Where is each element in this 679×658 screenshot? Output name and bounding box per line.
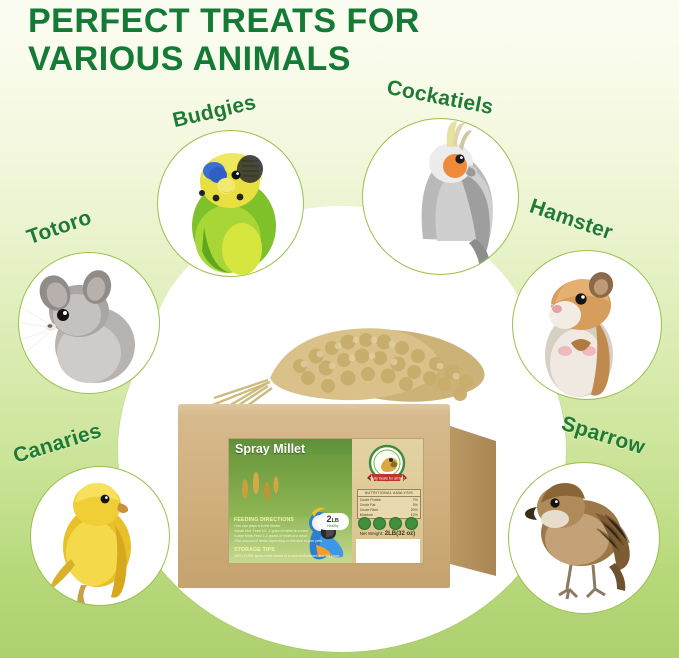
feeding-directions-block: FEEDING DIRECTIONS •You can place it in …: [234, 517, 350, 559]
animal-circle-sparrow: [508, 462, 660, 614]
net-weight-line: Net Weight: 2LB(32 oz): [352, 531, 423, 537]
animal-label-canaries: Canaries: [10, 419, 104, 469]
cockatiel-photo: [363, 119, 518, 274]
animal-circle-canaries: [30, 466, 170, 606]
nutrition-heading: NUTRITIONAL ANALYSIS: [358, 490, 420, 497]
label-right-panel: Tasty treats for all bird NUTRITIONAL AN…: [352, 439, 423, 563]
canary-photo: [31, 467, 169, 605]
cert-badge-icon: [373, 517, 386, 530]
title-line-1: PERFECT TREATS FOR: [28, 2, 420, 40]
budgie-photo: [158, 131, 303, 276]
nutrition-rows: Crude Protein7%Crude Fat3%Crude Fiber20%…: [358, 497, 420, 518]
net-weight-label: Net Weight:: [360, 531, 384, 536]
animal-label-cockatiels: Cockatiels: [385, 76, 496, 120]
product-name: Spray Millet: [235, 442, 352, 456]
animal-label-sparrow: Sparrow: [558, 412, 647, 460]
product-label: Spray Millet 2LB Healthy: [228, 438, 424, 564]
hamster-photo: [513, 251, 661, 399]
infographic-canvas: PERFECT TREATS FOR VARIOUS ANIMALS Budgi…: [0, 0, 679, 658]
chinchilla-photo: [19, 253, 159, 393]
label-white-strip: [356, 539, 420, 563]
label-left-panel: Spray Millet 2LB Healthy: [229, 439, 352, 563]
product-box: Spray Millet 2LB Healthy: [178, 398, 508, 588]
cert-badge-icon: [358, 517, 371, 530]
animal-circle-budgies: [157, 130, 304, 277]
page-title: PERFECT TREATS FOR VARIOUS ANIMALS: [28, 2, 648, 78]
animal-circle-hamster: [512, 250, 662, 400]
feeding-directions-heading: FEEDING DIRECTIONS: [234, 517, 350, 523]
box-side-panel: [450, 426, 496, 576]
nutrition-panel: NUTRITIONAL ANALYSIS Crude Protein7%Crud…: [357, 489, 421, 519]
storage-tips-heading: STORAGE TIPS: [234, 547, 350, 553]
storage-tips-text: MEILLEURE spray millet stored in a cool …: [234, 554, 350, 559]
title-line-2: VARIOUS ANIMALS: [28, 40, 648, 78]
certification-badges: [358, 517, 418, 530]
animal-circle-totoro: [18, 252, 160, 394]
brand-logo-badge: Tasty treats for all bird: [363, 444, 411, 488]
animal-label-totoro: Totoro: [24, 206, 95, 250]
logo-tagline-text: Tasty treats for all bird: [370, 477, 405, 481]
cert-badge-icon: [405, 517, 418, 530]
animal-circle-cockatiels: [362, 118, 519, 275]
animal-label-budgies: Budgies: [170, 91, 258, 133]
cert-badge-icon: [389, 517, 402, 530]
net-weight-value: 2LB(32 oz): [385, 531, 415, 537]
nutrition-table: Crude Protein7%Crude Fat3%Crude Fiber20%…: [358, 497, 420, 518]
sparrow-photo: [509, 463, 659, 613]
animal-label-hamster: Hamster: [526, 195, 615, 246]
feeding-directions-text: •You can place it in the feeder •Small b…: [234, 524, 350, 544]
